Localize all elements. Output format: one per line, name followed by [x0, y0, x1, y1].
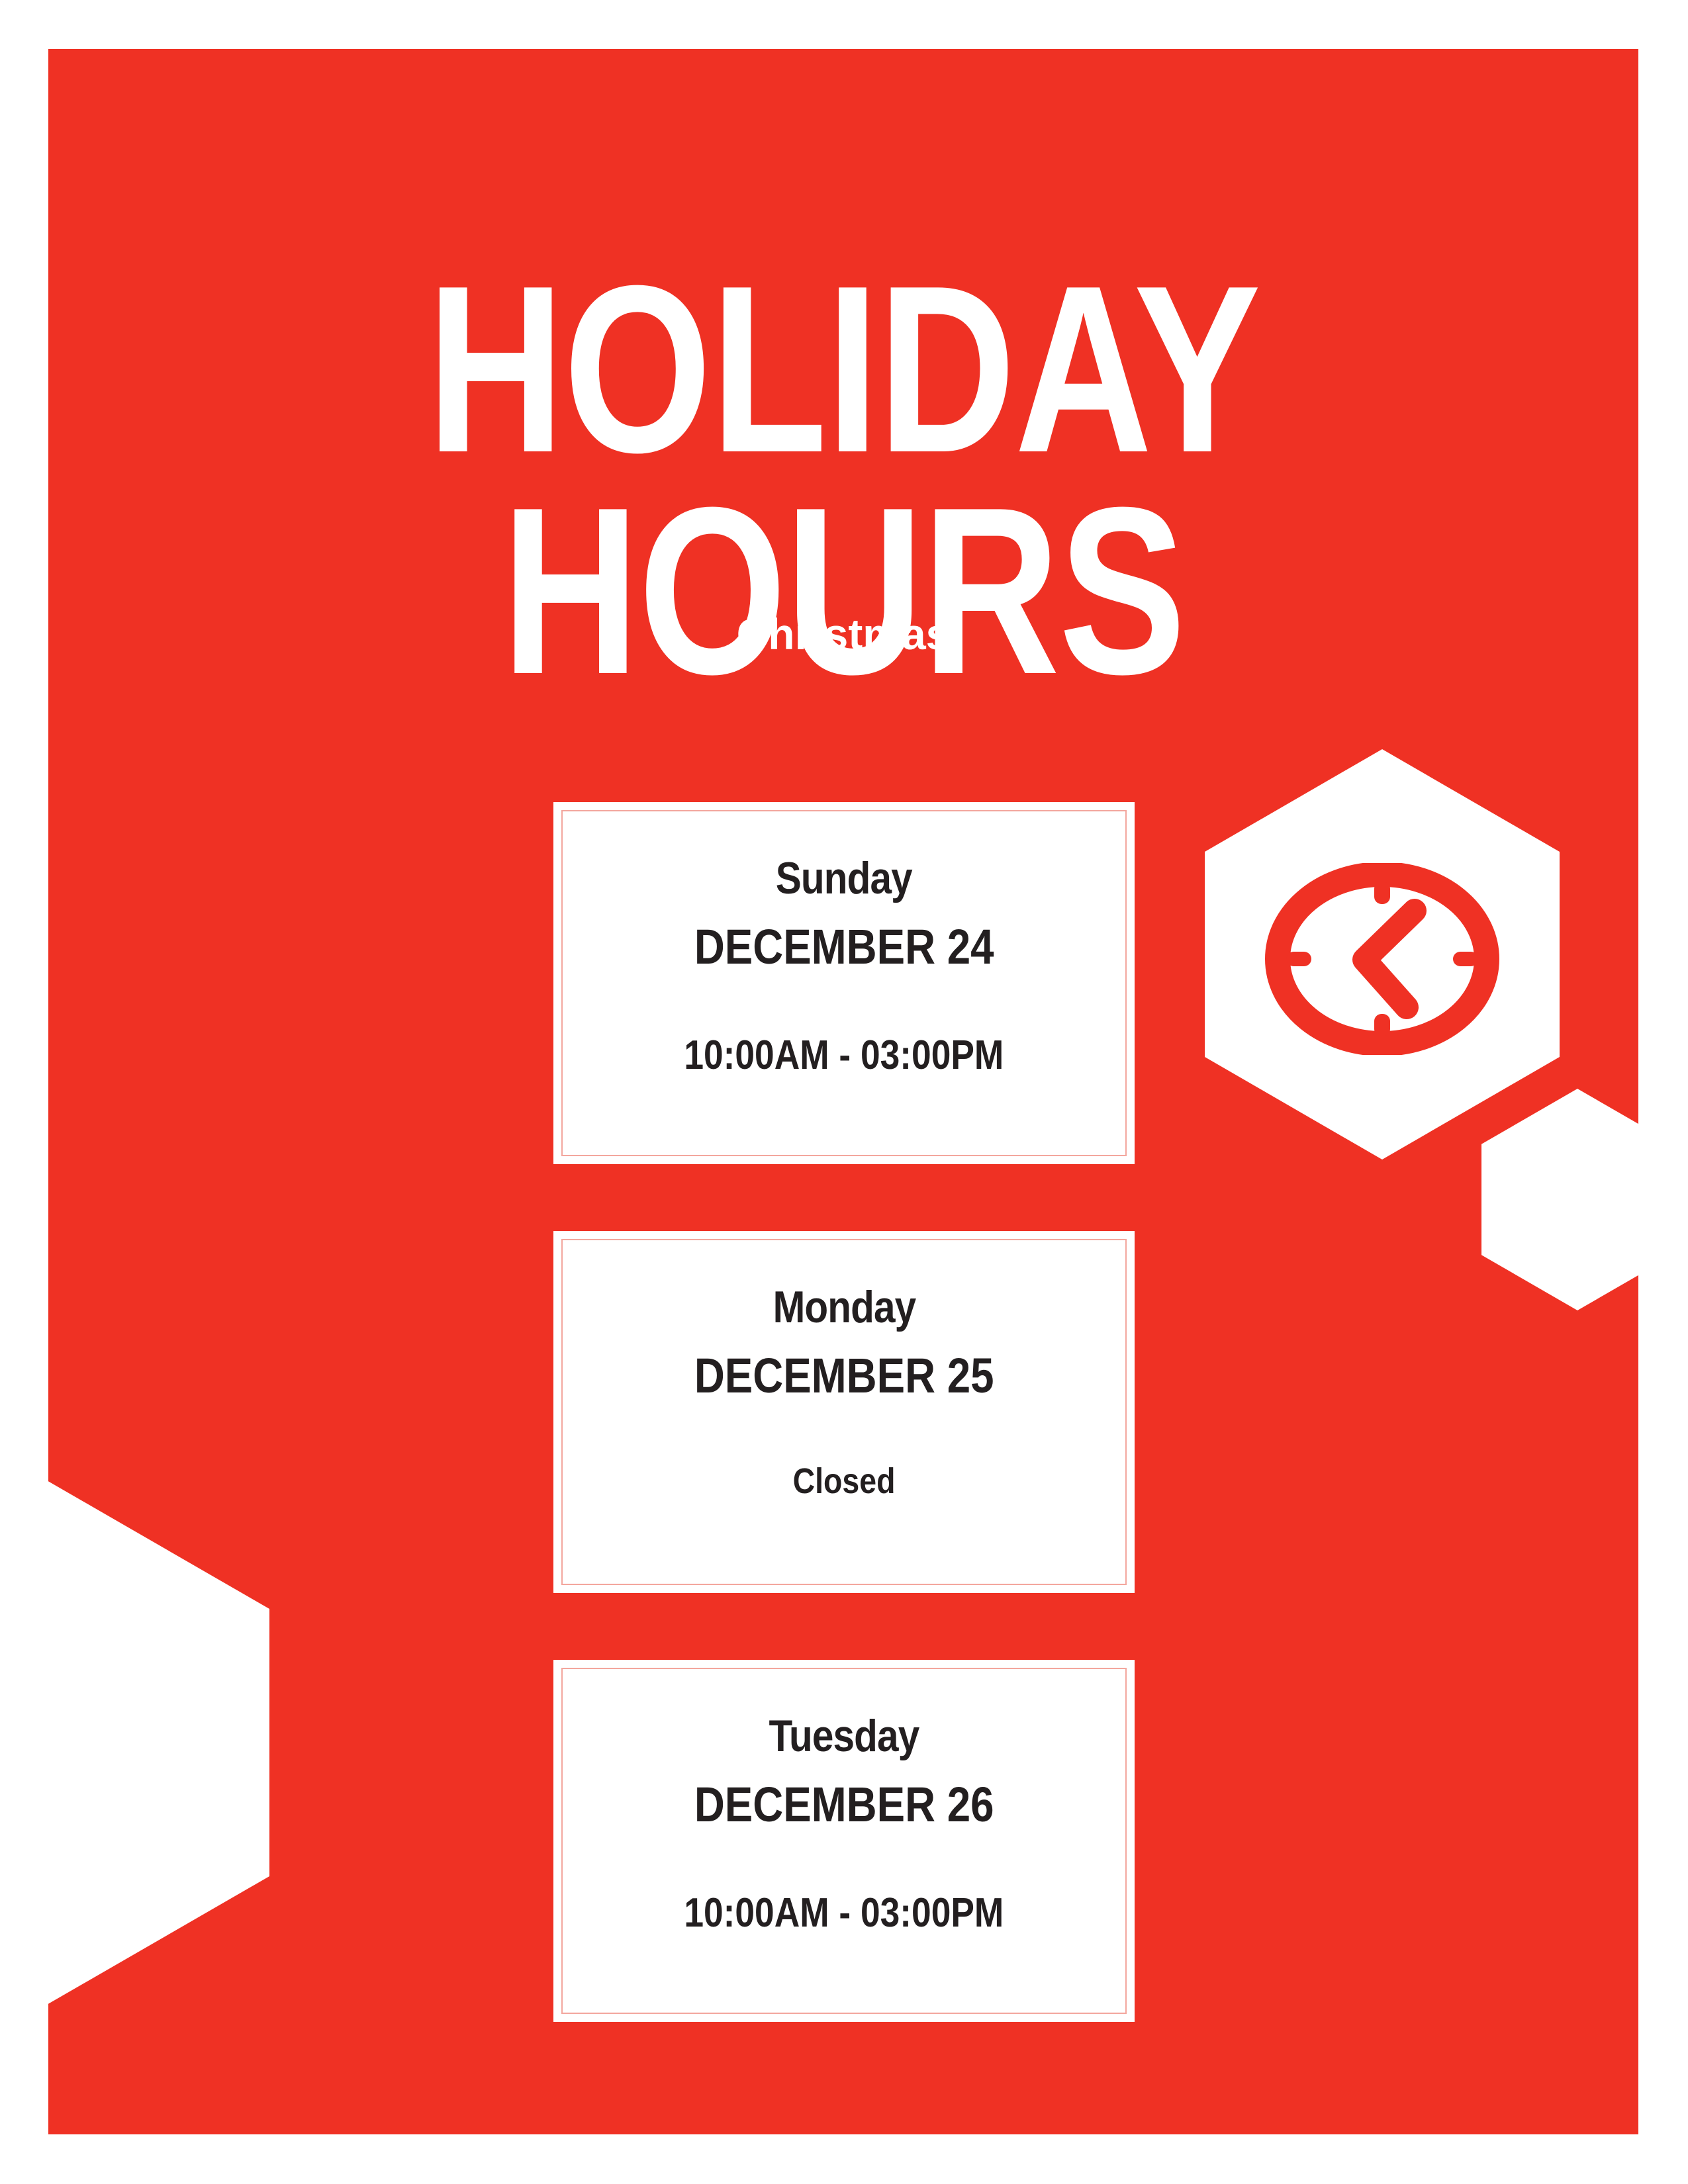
poster-canvas: HOLIDAY HOURS Christmas Sunday DECEMBER …: [0, 0, 1688, 2184]
schedule-card: Sunday DECEMBER 24 10:00AM - 03:00PM: [553, 802, 1135, 1164]
schedule-date: DECEMBER 26: [694, 1776, 994, 1833]
page-subtitle: Christmas: [48, 609, 1638, 659]
title-line-2: HOURS: [207, 480, 1479, 702]
schedule-hours: Closed: [793, 1461, 896, 1502]
schedule-day-name: Monday: [773, 1281, 915, 1333]
schedule-card: Monday DECEMBER 25 Closed: [553, 1231, 1135, 1593]
clock-icon: [1265, 863, 1499, 1055]
schedule-date: DECEMBER 25: [694, 1347, 994, 1404]
schedule-card: Tuesday DECEMBER 26 10:00AM - 03:00PM: [553, 1660, 1135, 2022]
decorative-hexagon-bottom-left: [48, 1475, 269, 2010]
schedule-list: Sunday DECEMBER 24 10:00AM - 03:00PM Mon…: [553, 802, 1135, 2022]
title-line-1: HOLIDAY: [207, 259, 1479, 480]
schedule-day-name: Sunday: [776, 852, 912, 904]
schedule-day-name: Tuesday: [769, 1710, 919, 1762]
schedule-date: DECEMBER 24: [694, 919, 994, 975]
schedule-hours: 10:00AM - 03:00PM: [684, 1032, 1004, 1079]
schedule-card-border: Sunday DECEMBER 24 10:00AM - 03:00PM: [561, 810, 1127, 1156]
schedule-card-border: Monday DECEMBER 25 Closed: [561, 1239, 1127, 1585]
schedule-card-border: Tuesday DECEMBER 26 10:00AM - 03:00PM: [561, 1668, 1127, 2014]
schedule-hours: 10:00AM - 03:00PM: [684, 1889, 1004, 1936]
decorative-hexagon-small-right: [1481, 1089, 1638, 1310]
